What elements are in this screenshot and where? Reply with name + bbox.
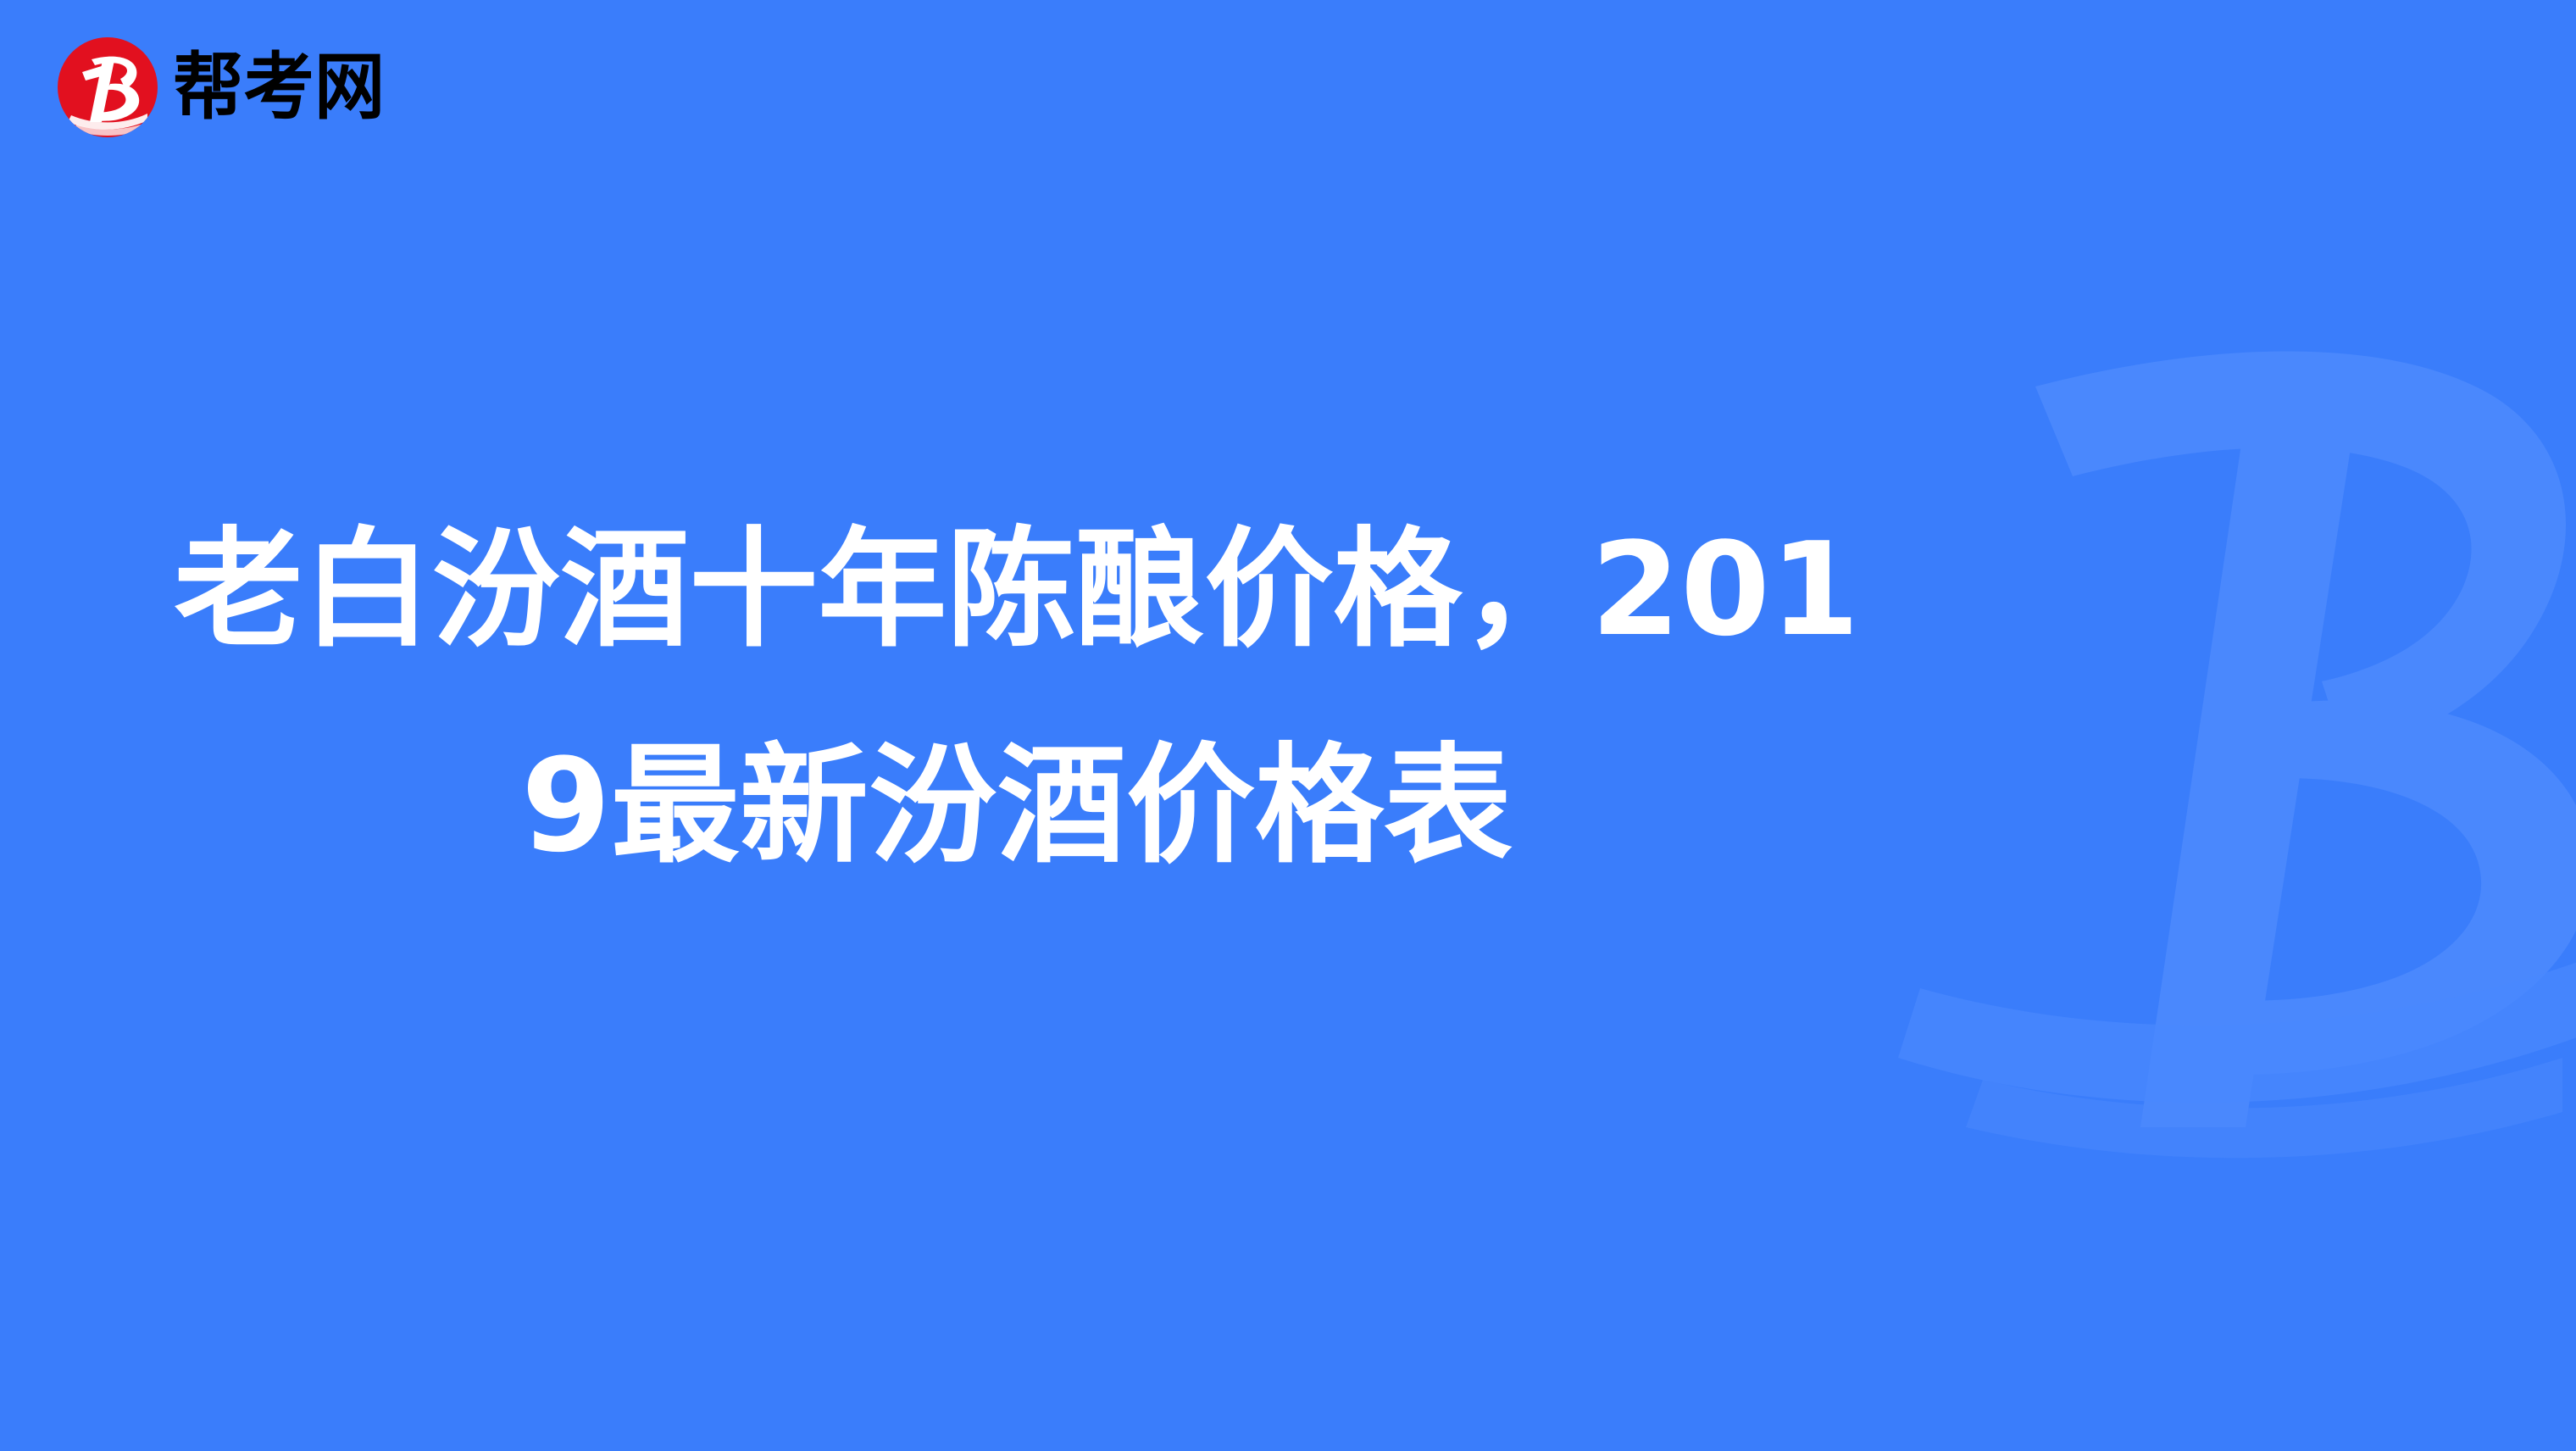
headline-container: 老白汾酒十年陈酿价格，2019最新汾酒价格表 — [0, 0, 2034, 1451]
poster-canvas: 帮考网 老白汾酒十年陈酿价格，2019最新汾酒价格表 — [0, 0, 2576, 1451]
page-title: 老白汾酒十年陈酿价格，2019最新汾酒价格表 — [144, 481, 1890, 915]
